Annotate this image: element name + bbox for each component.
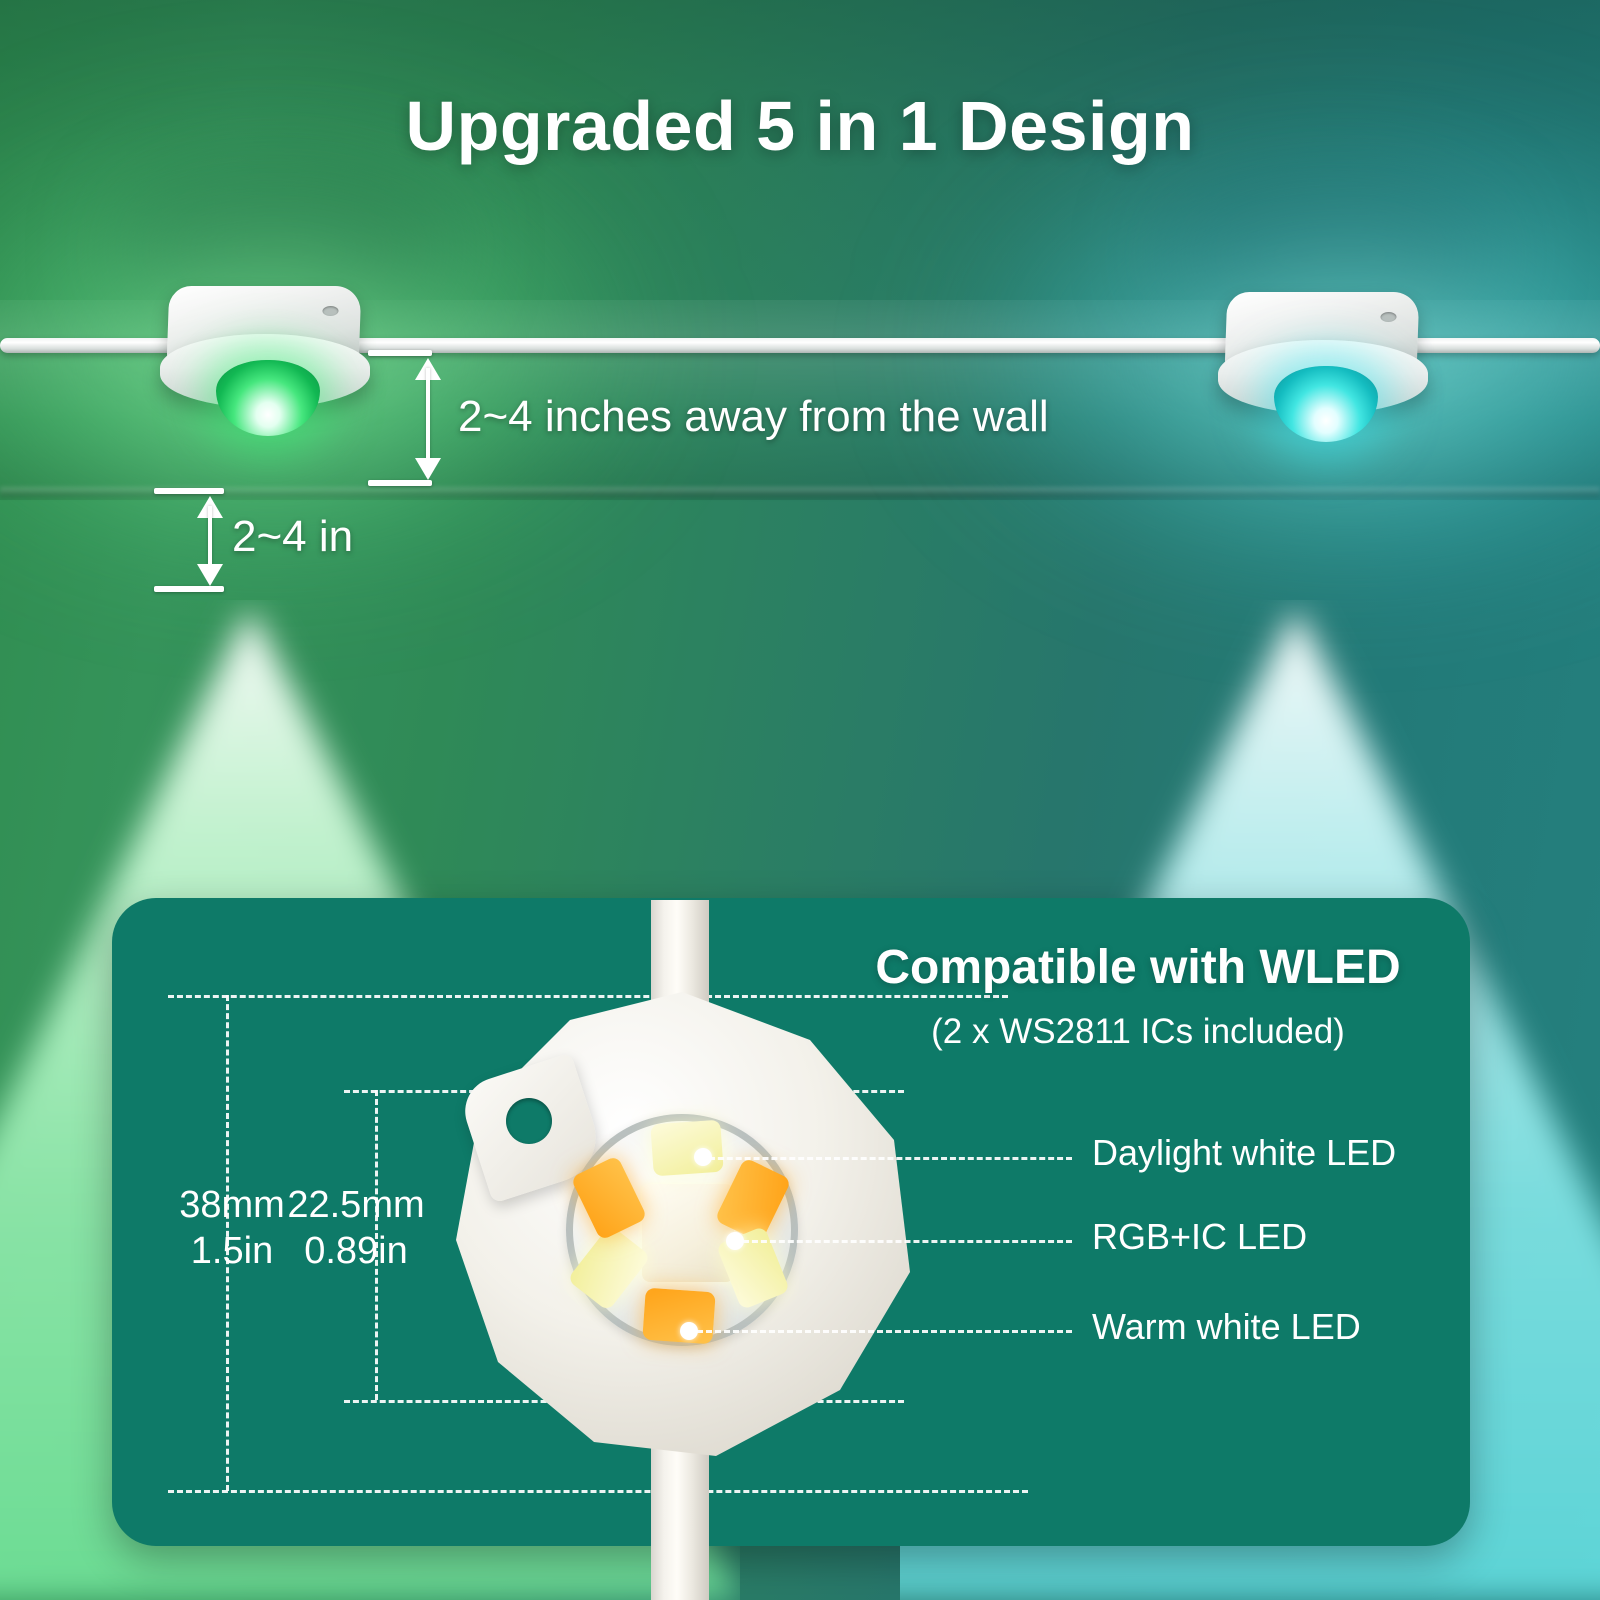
callout-line-rgb [734, 1240, 1072, 1243]
callout-label-rgb: RGB+IC LED [1092, 1216, 1307, 1258]
dimension-inner: 22.5mm 0.89in [276, 1182, 436, 1275]
card-title: Compatible with WLED [818, 940, 1458, 995]
right-fixture [1218, 288, 1428, 448]
card-subtitle: (2 x WS2811 ICs included) [818, 1012, 1458, 1052]
arrow-shaft [426, 368, 430, 472]
arrow-tick-top [154, 488, 224, 494]
screw-icon [1380, 312, 1396, 322]
ceiling-distance-label: 2~4 in [232, 512, 353, 562]
wall-distance-label: 2~4 inches away from the wall [458, 392, 1049, 442]
screw-icon [322, 306, 338, 316]
led-module-illustration [400, 900, 960, 1600]
dimension-inner-imperial: 0.89in [276, 1228, 436, 1274]
led-cluster [566, 1114, 798, 1346]
fixture-lens-cyan [1274, 366, 1378, 442]
page-title: Upgraded 5 in 1 Design [0, 86, 1600, 166]
rgb-ic-led-chip [642, 1184, 734, 1282]
mounting-hole [506, 1098, 552, 1144]
fixture-lens-green [216, 360, 320, 436]
callout-label-warm: Warm white LED [1092, 1306, 1361, 1348]
warm-white-led-bottom [642, 1288, 715, 1345]
daylight-white-led-top [650, 1120, 723, 1177]
callout-label-daylight: Daylight white LED [1092, 1132, 1396, 1174]
arrow-head-down [415, 458, 441, 480]
module-disc [444, 990, 920, 1466]
arrow-tick-bottom [154, 586, 224, 592]
arrow-tick-bottom [368, 480, 432, 486]
callout-line-daylight [700, 1157, 1072, 1160]
dimension-inner-metric: 22.5mm [276, 1182, 436, 1228]
left-fixture [160, 282, 370, 442]
infographic-canvas: Upgraded 5 in 1 Design 2~4 inches away f… [0, 0, 1600, 1600]
arrow-head-down [197, 564, 223, 586]
callout-line-warm [688, 1330, 1072, 1333]
arrow-tick-top [368, 350, 432, 356]
